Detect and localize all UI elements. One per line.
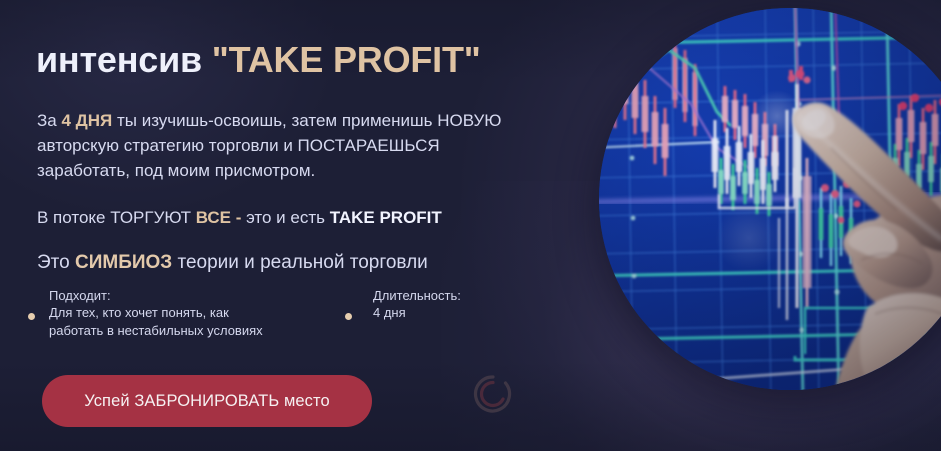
page-title: интенсив "TAKE PROFIT" [36,38,481,81]
bullet-body: Длительность: 4 дня [373,287,461,322]
paragraph-3-highlight: СИМБИОЗ [75,252,172,273]
paragraph-everyone-trades: В потоке ТОРГУЮТ ВСЕ - это и есть TAKE P… [37,205,442,230]
paragraph-2-part2: это и есть [241,208,329,227]
bullet-text: 4 дня [373,305,406,320]
paragraph-1-highlight: 4 ДНЯ [61,111,112,130]
bullet-dot-icon [345,313,352,320]
page-title-en: "TAKE PROFIT" [212,39,481,80]
bullet-body: Подходит: Для тех, кто хочет понять, как… [49,287,263,340]
paragraph-3-part2: теории и реальной торговли [172,252,428,273]
paragraph-2-highlight: ВСЕ - [196,208,242,227]
bullet-text: Для тех, кто хочет понять, как работать … [49,305,263,338]
paragraph-3-part1: Это [37,252,75,273]
bullet-dot-icon [28,313,35,320]
bullet-label: Подходит: [49,287,263,304]
bullet-list: Подходит: Для тех, кто хочет понять, как… [0,287,600,347]
paragraph-2-part1: В потоке ТОРГУЮТ [37,208,196,227]
paragraph-duration: За 4 ДНЯ ты изучишь-освоишь, затем приме… [37,108,537,183]
page-title-ru: интенсив [36,39,212,80]
promo-banner: интенсив "TAKE PROFIT" За 4 ДНЯ ты изучи… [0,0,941,451]
paragraph-1-part1: За [37,111,61,130]
content-column: интенсив "TAKE PROFIT" За 4 ДНЯ ты изучи… [0,0,600,451]
paragraph-symbiosis: Это СИМБИОЗ теории и реальной торговли [37,250,428,275]
paragraph-2-brand: TAKE PROFIT [330,208,442,227]
list-item: Подходит: Для тех, кто хочет понять, как… [28,287,263,340]
list-item: Длительность: 4 дня [345,287,461,322]
bullet-label: Длительность: [373,287,461,304]
book-place-button[interactable]: Успей ЗАБРОНИРОВАТЬ место [42,375,372,427]
